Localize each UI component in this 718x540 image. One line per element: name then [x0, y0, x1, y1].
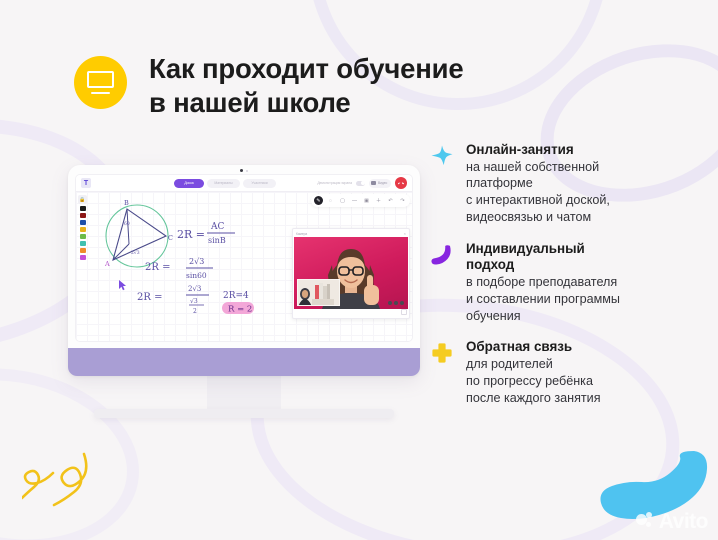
redo-tool-icon[interactable]: ↷	[398, 196, 407, 205]
video-controls[interactable]	[388, 301, 404, 305]
feature-title-line-1: Индивидуальный	[466, 241, 692, 258]
app-logo-icon: T	[81, 178, 91, 188]
feature-line: после каждого занятия	[466, 390, 692, 407]
undo-tool-icon[interactable]: ↶	[386, 196, 395, 205]
feature-body: Обратная связь для родителей по прогресс…	[466, 339, 692, 406]
resize-handle[interactable]	[401, 309, 407, 315]
svg-text:√3: √3	[190, 298, 198, 305]
crescent-icon	[430, 241, 457, 325]
svg-text:sin60: sin60	[186, 271, 207, 280]
feature-line: с интерактивной доской,	[466, 192, 692, 209]
monitor-stand-base	[94, 409, 394, 418]
pen-tool-icon[interactable]: ✎	[314, 196, 323, 205]
feature-line: видеосвязью и чатом	[466, 209, 692, 226]
feature-line: и составлении программы	[466, 291, 692, 308]
swatch-orange[interactable]	[80, 248, 86, 253]
svg-text:A: A	[104, 260, 110, 268]
svg-text:2R=4: 2R=4	[223, 291, 249, 301]
hangup-button[interactable]	[395, 177, 407, 189]
app-topbar: T Доска Материалы Участники Демонстрация…	[76, 175, 412, 192]
video-panel-title: Камера	[296, 232, 307, 236]
page-title-line-1: Как проходит обучение	[149, 52, 463, 86]
avito-dots-icon	[636, 512, 656, 532]
feature-line: на нашей собственной	[466, 159, 692, 176]
page-title: Как проходит обучение в нашей школе	[149, 52, 463, 120]
close-icon[interactable]: ×	[404, 232, 406, 236]
swatch-magenta[interactable]	[80, 255, 86, 260]
page-header: Как проходит обучение в нашей школе	[74, 52, 463, 120]
feature-line: обучения	[466, 308, 692, 325]
svg-text:R = 2: R = 2	[228, 305, 252, 315]
video-panel-footer	[294, 309, 408, 317]
page-title-line-2: в нашей школе	[149, 86, 463, 120]
app-logo-letter: T	[84, 180, 88, 187]
drawing-toolbar: ✎ ◌ ▢ — ▣ ＋ ↶ ↷	[311, 194, 410, 207]
swatch-green[interactable]	[80, 234, 86, 239]
svg-text:2R =: 2R =	[177, 228, 205, 241]
tab-participants[interactable]: Участники	[243, 179, 276, 188]
monitor-chin	[68, 348, 420, 376]
svg-text:2: 2	[193, 308, 197, 315]
feature-title: Обратная связь	[466, 339, 692, 356]
star-icon	[430, 142, 457, 226]
feature-line: для родителей	[466, 356, 692, 373]
color-palette: 🔒	[76, 192, 89, 342]
add-tool-icon[interactable]: ＋	[374, 196, 383, 205]
svg-text:60: 60	[124, 221, 130, 227]
svg-text:sinB: sinB	[208, 236, 226, 245]
screenshare-label: Демонстрация экрана	[317, 181, 352, 185]
app-topbar-right: Демонстрация экрана Видео	[317, 177, 407, 189]
avito-brand-text: Avito	[659, 511, 708, 532]
video-chip[interactable]: Видео	[369, 179, 391, 188]
video-chip-label: Видео	[378, 181, 387, 185]
avito-watermark: Avito	[636, 511, 708, 532]
feature-title-line-2: подход	[466, 257, 692, 274]
app-tabs: Доска Материалы Участники	[174, 179, 276, 188]
tab-materials[interactable]: Материалы	[207, 179, 240, 188]
whiteboard[interactable]: 🔒	[76, 192, 412, 342]
plus-icon	[430, 339, 457, 406]
swatch-blue[interactable]	[80, 220, 86, 225]
feature-title: Онлайн-занятия	[466, 142, 692, 159]
line-tool-icon[interactable]: —	[350, 196, 359, 205]
monitor-screen: T Доска Материалы Участники Демонстрация…	[75, 174, 413, 342]
svg-text:AC: AC	[210, 222, 224, 232]
screenshare-toggle[interactable]	[356, 181, 365, 186]
video-call-panel[interactable]: Камера ×	[292, 228, 410, 319]
svg-text:B: B	[124, 199, 129, 207]
video-camera-icon	[371, 181, 376, 185]
svg-text:2√3: 2√3	[188, 285, 201, 293]
video-feed	[294, 237, 408, 309]
image-tool-icon[interactable]: ▣	[362, 196, 371, 205]
feature-list: Онлайн-занятия на нашей собственной плат…	[430, 142, 692, 421]
lock-icon[interactable]: 🔒	[78, 195, 87, 204]
feature-item-feedback: Обратная связь для родителей по прогресс…	[430, 339, 692, 406]
feature-item-individual-approach: Индивидуальный подход в подборе преподав…	[430, 241, 692, 325]
feature-line: платформе	[466, 175, 692, 192]
monitor-mockup: T Доска Материалы Участники Демонстрация…	[68, 165, 420, 418]
swatch-teal[interactable]	[80, 241, 86, 246]
more-icon[interactable]	[400, 301, 404, 305]
svg-text:2√3: 2√3	[189, 257, 204, 266]
tab-board[interactable]: Доска	[174, 179, 204, 188]
monitor-stand-neck	[207, 376, 281, 409]
feature-line: в подборе преподавателя	[466, 274, 692, 291]
phone-hangup-icon	[398, 180, 404, 186]
swatch-yellow[interactable]	[80, 227, 86, 232]
svg-text:2√3: 2√3	[131, 250, 140, 256]
feature-body: Индивидуальный подход в подборе преподав…	[466, 241, 692, 325]
swatch-black[interactable]	[80, 206, 86, 211]
monitor-icon	[87, 71, 114, 94]
yellow-squiggle-decoration	[22, 452, 92, 519]
tab-board-label: Доска	[174, 179, 204, 188]
svg-text:2R =: 2R =	[137, 292, 162, 303]
student-avatar	[298, 280, 340, 306]
tab-participants-label: Участники	[243, 179, 276, 188]
shapes-tool-icon[interactable]: ▢	[338, 196, 347, 205]
swatch-dark-red[interactable]	[80, 213, 86, 218]
video-panel-header: Камера ×	[294, 230, 408, 237]
feature-body: Онлайн-занятия на нашей собственной плат…	[466, 142, 692, 226]
monitor-bezel: T Доска Материалы Участники Демонстрация…	[68, 165, 420, 376]
mic-icon[interactable]	[388, 301, 392, 305]
feature-line: по прогрессу ребёнка	[466, 373, 692, 390]
svg-text:C: C	[168, 234, 173, 242]
eraser-tool-icon[interactable]: ◌	[326, 196, 335, 205]
webcam-icon	[240, 169, 248, 172]
tab-materials-label: Материалы	[207, 179, 240, 188]
feature-item-online-lessons: Онлайн-занятия на нашей собственной плат…	[430, 142, 692, 226]
monitor-icon-badge	[74, 56, 127, 109]
svg-text:2R =: 2R =	[145, 262, 170, 273]
picture-in-picture[interactable]	[297, 279, 340, 306]
camera-icon[interactable]	[394, 301, 398, 305]
